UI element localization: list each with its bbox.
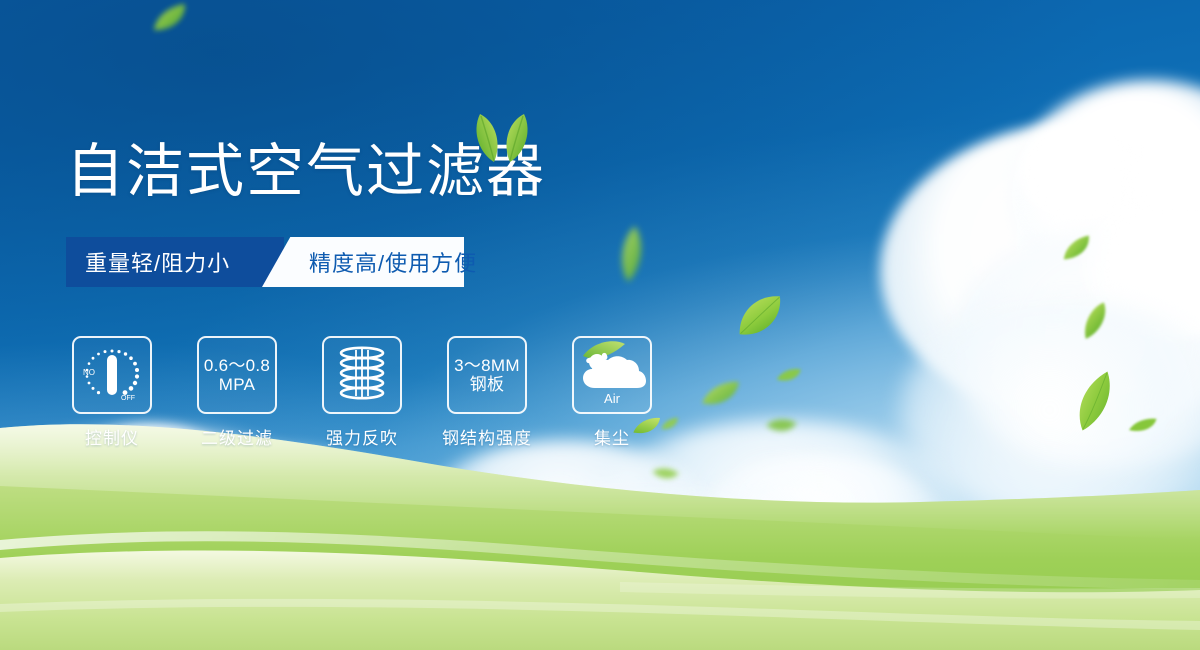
sprout-leaves-icon xyxy=(468,112,536,164)
air-label: Air xyxy=(604,391,621,406)
feature-icon-box: Air xyxy=(572,336,652,414)
subtitle-bar: 重量轻/阻力小 精度高/使用方便 xyxy=(66,237,464,287)
subtitle-left-label: 重量轻/阻力小 xyxy=(85,237,230,287)
feature-item-backblow[interactable]: 强力反吹 xyxy=(316,336,408,449)
feature-caption: 集尘 xyxy=(594,424,630,449)
feature-caption: 钢结构强度 xyxy=(442,424,532,449)
feature-item-dust-collection[interactable]: Air 集尘 xyxy=(566,336,658,449)
feature-caption: 强力反吹 xyxy=(326,424,398,449)
feature-item-secondary-filter[interactable]: 0.6～0.8 MPA 二级过滤 xyxy=(191,336,283,449)
feature-item-controller[interactable]: NO OFF 控制仪 xyxy=(66,336,158,449)
feature-caption: 二级过滤 xyxy=(201,424,273,449)
feature-list: NO OFF 控制仪 0.6～0.8 MPA 二级过滤 xyxy=(66,336,658,449)
pressure-text-icon: 0.6～0.8 MPA xyxy=(204,356,270,394)
pressure-line-1: 0.6～0.8 xyxy=(204,356,270,375)
feature-icon-box xyxy=(322,336,402,414)
steel-line-1: 3～8MM xyxy=(454,356,520,375)
subtitle-right-label: 精度高/使用方便 xyxy=(309,237,477,287)
air-cloud-icon: Air xyxy=(575,342,649,408)
gauge-dial-icon: NO OFF xyxy=(79,344,145,406)
feature-icon-box: 0.6～0.8 MPA xyxy=(197,336,277,414)
coil-spring-icon xyxy=(335,345,389,405)
steel-line-2: 钢板 xyxy=(454,375,520,394)
feature-caption: 控制仪 xyxy=(85,424,139,449)
steel-plate-text-icon: 3～8MM 钢板 xyxy=(454,356,520,394)
pressure-line-2: MPA xyxy=(204,375,270,394)
banner-stage: 自洁式空气过滤器 重量轻/阻力小 精度高/使用方便 xyxy=(0,0,1200,650)
feature-icon-box: NO OFF xyxy=(72,336,152,414)
gauge-no-label: NO xyxy=(83,368,95,377)
feature-icon-box: 3～8MM 钢板 xyxy=(447,336,527,414)
feature-item-steel-strength[interactable]: 3～8MM 钢板 钢结构强度 xyxy=(441,336,533,449)
gauge-off-label: OFF xyxy=(121,395,135,402)
